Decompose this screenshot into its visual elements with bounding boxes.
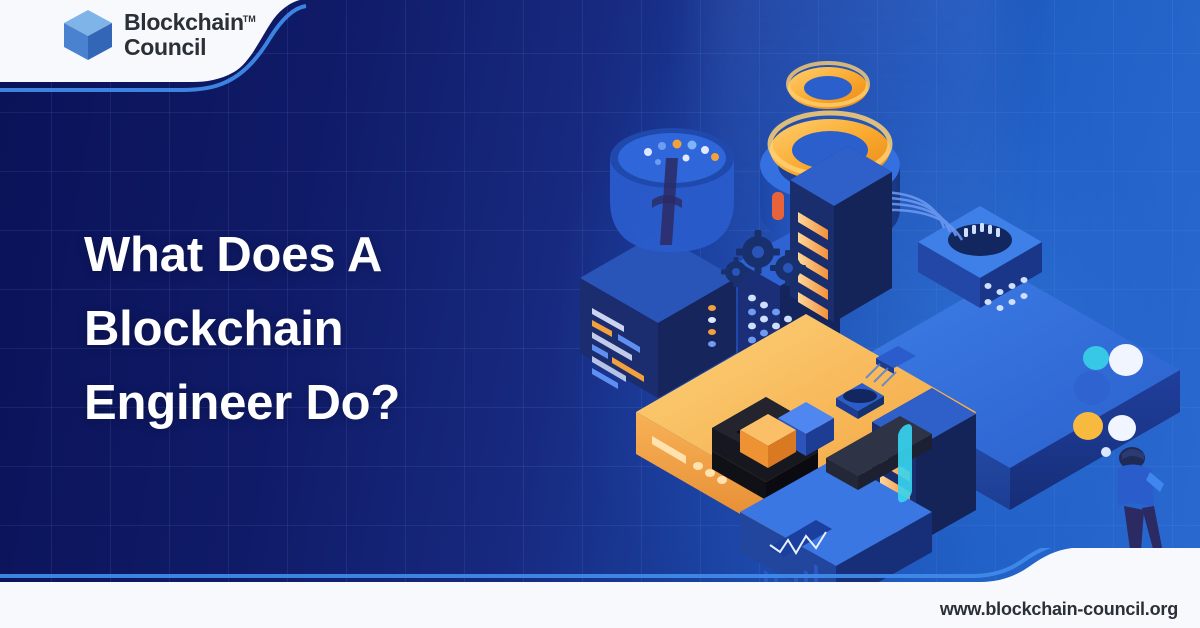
brand-line-2: Council bbox=[124, 35, 244, 60]
brand-logo[interactable]: Blockchain Council TM bbox=[62, 8, 244, 62]
banner-root: Blockchain Council TM What Does A Blockc… bbox=[0, 0, 1200, 628]
website-url[interactable]: www.blockchain-council.org bbox=[940, 599, 1178, 620]
headline-line-1: What Does A bbox=[84, 218, 554, 292]
satellite-dish bbox=[610, 128, 734, 252]
brand-wordmark: Blockchain Council TM bbox=[124, 10, 244, 60]
headline-line-3: Engineer Do? bbox=[84, 366, 554, 440]
brand-line-1: Blockchain bbox=[124, 10, 244, 35]
server-rack-striped bbox=[790, 146, 892, 322]
headline-line-2: Blockchain bbox=[84, 292, 554, 366]
page-title: What Does A Blockchain Engineer Do? bbox=[84, 218, 554, 440]
trademark-mark: TM bbox=[243, 7, 256, 32]
isometric-illustration bbox=[540, 40, 1200, 600]
blockchain-cube-icon bbox=[62, 8, 114, 62]
